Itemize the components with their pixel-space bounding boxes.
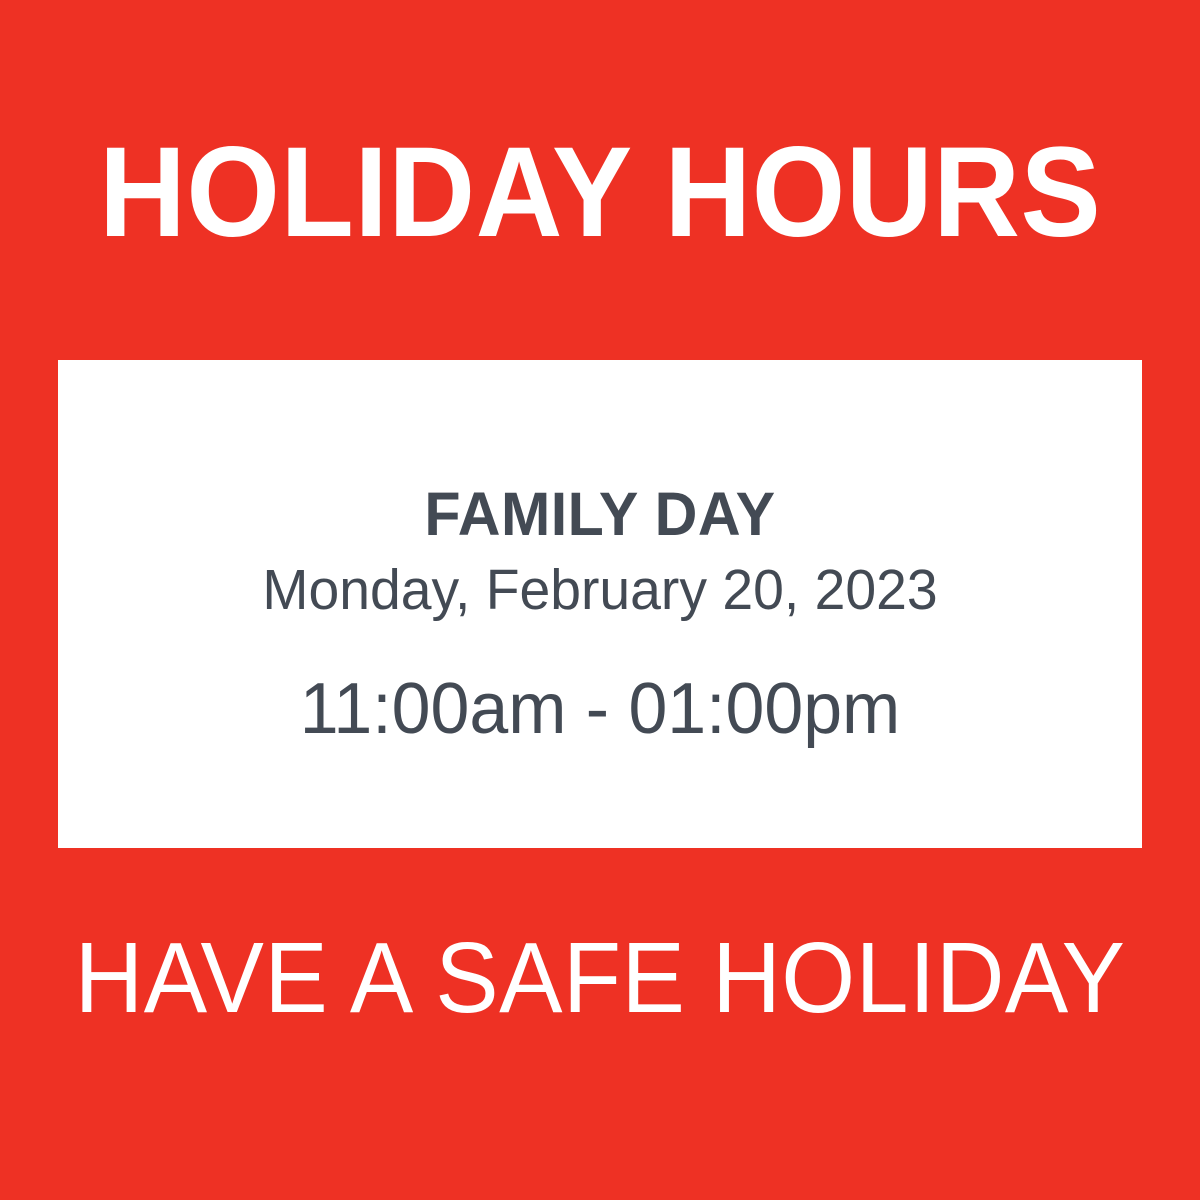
event-name: FAMILY DAY — [74, 482, 1125, 546]
holiday-hours-poster: HOLIDAY HOURS FAMILY DAY Monday, Februar… — [0, 0, 1200, 1200]
headline-region: HOLIDAY HOURS — [0, 0, 1200, 360]
footer-region: HAVE A SAFE HOLIDAY — [0, 848, 1200, 1200]
event-hours: 11:00am - 01:00pm — [74, 672, 1125, 748]
holiday-info-card: FAMILY DAY Monday, February 20, 2023 11:… — [58, 360, 1142, 848]
footer-message: HAVE A SAFE HOLIDAY — [75, 928, 1126, 1028]
event-date: Monday, February 20, 2023 — [74, 560, 1125, 622]
page-title: HOLIDAY HOURS — [99, 129, 1101, 257]
holiday-info-card-content: FAMILY DAY Monday, February 20, 2023 11:… — [58, 360, 1142, 747]
